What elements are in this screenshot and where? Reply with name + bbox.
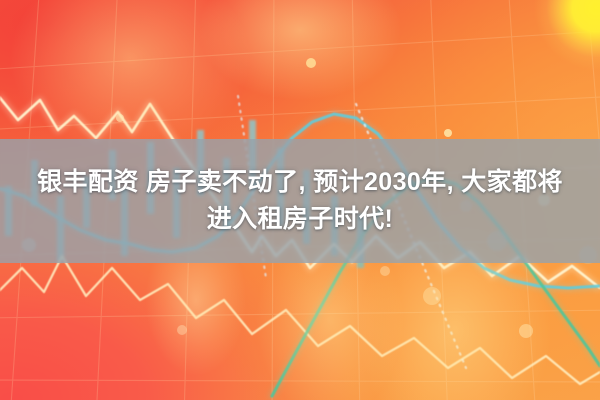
caption-line-2: 进入租房子时代!	[207, 203, 394, 236]
banner-image: 银丰配资 房子卖不动了, 预计2030年, 大家都将 进入租房子时代!	[0, 0, 600, 400]
caption-block: 银丰配资 房子卖不动了, 预计2030年, 大家都将 进入租房子时代!	[0, 139, 600, 263]
caption-line-1: 银丰配资 房子卖不动了, 预计2030年, 大家都将	[37, 166, 563, 199]
